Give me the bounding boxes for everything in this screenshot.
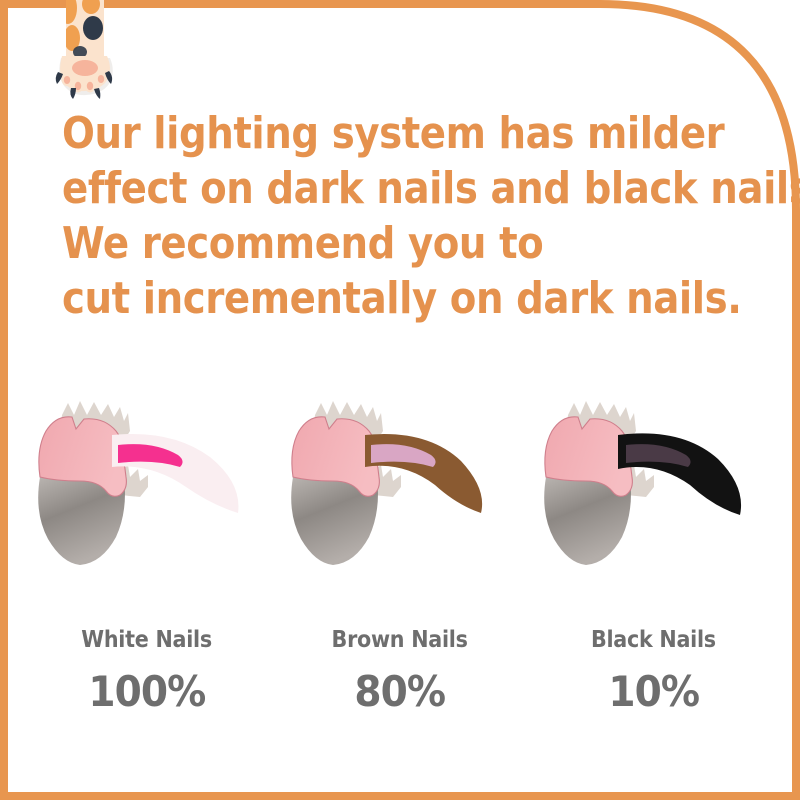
white-nail-illustration (32, 385, 262, 585)
black-nail-illustration (538, 385, 768, 585)
black-nail-svg (538, 385, 768, 585)
nail-value-brown: 80% (355, 667, 446, 716)
cat-paw-illustration (52, 0, 132, 110)
nail-column-brown: Brown Nails 80% (273, 385, 526, 716)
headline-line-3: We recommend you to (62, 216, 669, 271)
cat-paw-icon (52, 0, 132, 110)
infographic-page: Our lighting system has milder effect on… (0, 0, 800, 800)
brown-nail-illustration (285, 385, 515, 585)
white-nail-svg (32, 385, 262, 585)
nail-label-white: White Nails (81, 627, 212, 653)
nail-column-white: White Nails 100% (20, 385, 273, 716)
nail-value-white: 100% (88, 667, 205, 716)
nail-label-black: Black Nails (591, 627, 716, 653)
nail-comparison-columns: White Nails 100% (20, 385, 780, 716)
brown-nail-svg (285, 385, 515, 585)
nail-value-black: 10% (608, 667, 699, 716)
paw-main-pad (72, 60, 98, 76)
headline-line-2: effect on dark nails and black nails. (62, 161, 669, 216)
headline-line-4: cut incrementally on dark nails. (62, 271, 669, 326)
headline-block: Our lighting system has milder effect on… (62, 106, 752, 326)
nail-column-black: Black Nails 10% (527, 385, 780, 716)
headline-line-1: Our lighting system has milder (62, 106, 669, 161)
nail-label-brown: Brown Nails (332, 627, 468, 653)
paw-leg (59, 0, 104, 62)
